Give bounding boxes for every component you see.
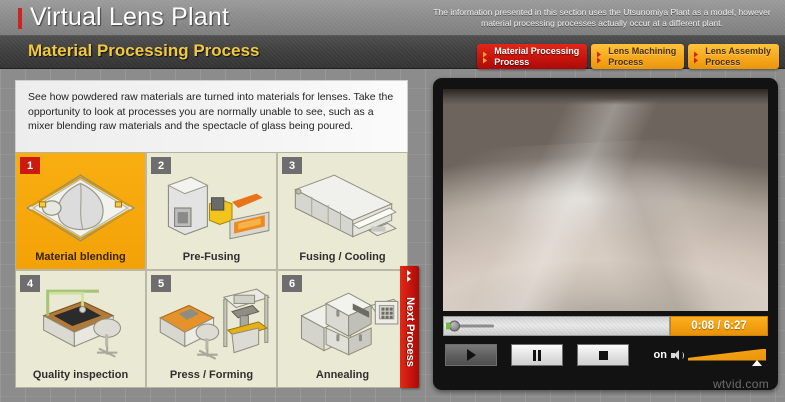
tab-label-line2: Process — [608, 57, 676, 68]
arrow-bullet-icon — [694, 52, 701, 61]
mixer-vessel-icon — [16, 167, 145, 249]
arrow-bullet-icon — [483, 52, 490, 61]
play-button[interactable] — [445, 344, 497, 366]
step-number-badge: 3 — [282, 157, 302, 174]
step-label: Annealing — [278, 369, 407, 381]
tab-label-line2: Process — [705, 57, 771, 68]
pause-button[interactable] — [511, 344, 563, 366]
volume-control[interactable]: on — [654, 344, 766, 366]
seek-bar-handle[interactable] — [449, 321, 460, 332]
watermark-label: wtvid.com — [713, 377, 769, 391]
process-step-1[interactable]: 1 Material blending — [16, 153, 145, 269]
volume-slider-handle[interactable] — [752, 360, 762, 366]
step-label: Fusing / Cooling — [278, 251, 407, 263]
step-number-badge: 6 — [282, 275, 302, 292]
step-number-badge: 2 — [151, 157, 171, 174]
left-content-panel: See how powdered raw materials are turne… — [15, 80, 408, 388]
process-step-6[interactable]: 6 — [278, 271, 407, 387]
step-number-badge: 1 — [20, 157, 40, 174]
stop-button[interactable] — [577, 344, 629, 366]
description-box: See how powdered raw materials are turne… — [15, 80, 408, 152]
tab-label-line1: Material Processing — [494, 46, 579, 57]
stop-icon — [599, 351, 608, 360]
speaker-icon[interactable] — [671, 349, 684, 362]
step-label: Pre-Fusing — [147, 251, 276, 263]
time-display: 0:08 / 6:27 — [670, 316, 768, 336]
video-progress-row: 0:08 / 6:27 — [443, 316, 768, 336]
app-header: Virtual Lens Plant The information prese… — [0, 0, 785, 36]
inspection-desk-icon — [16, 285, 145, 367]
video-viewport[interactable] — [443, 89, 768, 311]
step-number-badge: 4 — [20, 275, 40, 292]
pause-icon — [532, 350, 542, 361]
furnace-forklift-icon — [147, 167, 276, 249]
arrow-right-icon — [407, 271, 414, 280]
video-player: 0:08 / 6:27 on wtvid.com — [433, 78, 778, 390]
disclaimer-text: The information presented in this sectio… — [427, 7, 777, 30]
buffer-indicator — [446, 323, 450, 330]
tab-lens-assembly-process[interactable]: Lens Assembly Process — [688, 44, 779, 69]
step-label: Press / Forming — [147, 369, 276, 381]
page-title: Virtual Lens Plant — [30, 3, 229, 32]
process-step-3[interactable]: 3 Fusing / Cooling — [278, 153, 407, 269]
arrow-bullet-icon — [597, 52, 604, 61]
step-label: Quality inspection — [16, 369, 145, 381]
tab-label-line1: Lens Machining — [608, 46, 676, 57]
tab-material-processing-process[interactable]: Material Processing Process — [477, 44, 587, 69]
next-process-label: Next Process — [404, 297, 416, 367]
tab-label-line2: Process — [494, 57, 579, 68]
process-step-5[interactable]: 5 Press / Forming — [147, 271, 276, 387]
process-tabs: Material Processing Process Lens Machini… — [477, 44, 779, 69]
play-icon — [467, 349, 476, 361]
video-seek-bar[interactable] — [443, 316, 670, 336]
video-controls: on — [443, 344, 768, 372]
process-step-grid: 1 Material blending 2 — [15, 152, 408, 388]
volume-state-label: on — [654, 349, 667, 361]
tab-label-line1: Lens Assembly — [705, 46, 771, 57]
step-number-badge: 5 — [151, 275, 171, 292]
next-process-button[interactable]: Next Process — [400, 266, 419, 388]
conveyor-kiln-icon — [278, 167, 407, 249]
step-label: Material blending — [16, 251, 145, 263]
video-frame-image — [443, 89, 768, 311]
press-machine-icon — [147, 285, 276, 367]
process-step-4[interactable]: 4 Quality inspection — [16, 271, 145, 387]
process-step-2[interactable]: 2 Pre-Fusing — [147, 153, 276, 269]
title-accent-bar — [18, 8, 22, 29]
section-title: Material Processing Process — [28, 41, 260, 61]
annealing-oven-icon — [278, 285, 407, 367]
tab-lens-machining-process[interactable]: Lens Machining Process — [591, 44, 684, 69]
video-top-shadow — [443, 89, 768, 105]
